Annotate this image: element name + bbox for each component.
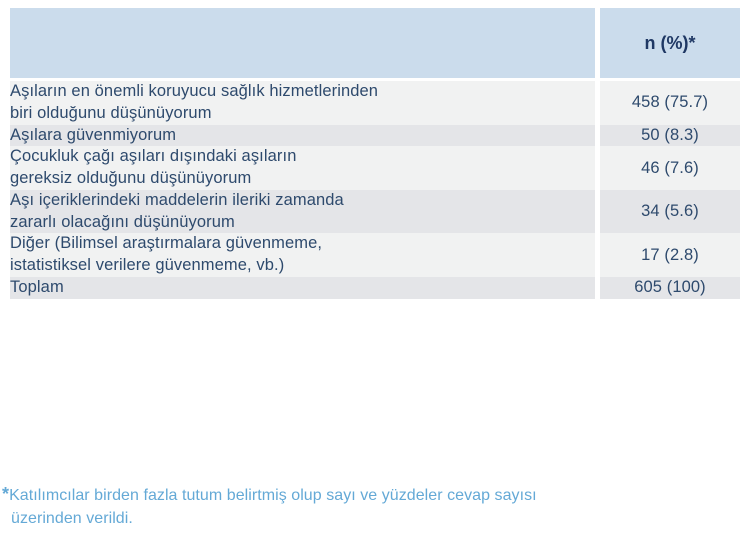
table-row: Diğer (Bilimsel araştırmalara güvenmeme,… bbox=[10, 233, 740, 277]
row-label-line1: Aşı içeriklerindeki maddelerin ileriki z… bbox=[10, 191, 344, 209]
row-label-line1: Çocukluk çağı aşıları dışındaki aşıların bbox=[10, 147, 296, 165]
row-label: Toplam bbox=[10, 277, 595, 299]
data-table-container: n (%)* Aşıların en önemli koruyucu sağlı… bbox=[10, 8, 740, 299]
footnote-line2: üzerinden verildi. bbox=[2, 507, 722, 530]
row-label: Çocukluk çağı aşıları dışındaki aşıların… bbox=[10, 146, 595, 190]
table-body: Aşıların en önemli koruyucu sağlık hizme… bbox=[10, 78, 740, 299]
footnote-line1: Katılımcılar birden fazla tutum belirtmi… bbox=[9, 487, 537, 504]
row-label-line2: zararlı olacağını düşünüyorum bbox=[10, 212, 595, 234]
row-label: Aşılara güvenmiyorum bbox=[10, 125, 595, 147]
header-value-cell: n (%)* bbox=[600, 8, 740, 78]
row-label: Aşı içeriklerindeki maddelerin ileriki z… bbox=[10, 190, 595, 234]
footnote-asterisk: * bbox=[2, 484, 9, 504]
row-label-line2: gereksiz olduğunu düşünüyorum bbox=[10, 168, 595, 190]
row-label-line1: Aşıların en önemli koruyucu sağlık hizme… bbox=[10, 82, 378, 100]
row-value: 46 (7.6) bbox=[600, 146, 740, 190]
row-value: 458 (75.7) bbox=[600, 81, 740, 125]
table-row: Aşı içeriklerindeki maddelerin ileriki z… bbox=[10, 190, 740, 234]
row-label-line1: Aşılara güvenmiyorum bbox=[10, 126, 176, 144]
header-label-cell bbox=[10, 8, 595, 78]
row-label-line2: biri olduğunu düşünüyorum bbox=[10, 103, 595, 125]
table-page: n (%)* Aşıların en önemli koruyucu sağlı… bbox=[0, 0, 740, 540]
table-footnote: *Katılımcılar birden fazla tutum belirtm… bbox=[2, 481, 722, 530]
table-header: n (%)* bbox=[10, 8, 740, 78]
row-value: 50 (8.3) bbox=[600, 125, 740, 147]
table-row-total: Toplam 605 (100) bbox=[10, 277, 740, 299]
table-row: Aşıların en önemli koruyucu sağlık hizme… bbox=[10, 81, 740, 125]
row-value: 34 (5.6) bbox=[600, 190, 740, 234]
row-value: 17 (2.8) bbox=[600, 233, 740, 277]
row-value: 605 (100) bbox=[600, 277, 740, 299]
header-row: n (%)* bbox=[10, 8, 740, 78]
row-label-line2: istatistiksel verilere güvenmeme, vb.) bbox=[10, 255, 595, 277]
row-label-line1: Diğer (Bilimsel araştırmalara güvenmeme, bbox=[10, 234, 322, 252]
attitudes-table: n (%)* Aşıların en önemli koruyucu sağlı… bbox=[10, 8, 740, 299]
table-row: Aşılara güvenmiyorum 50 (8.3) bbox=[10, 125, 740, 147]
table-row: Çocukluk çağı aşıları dışındaki aşıların… bbox=[10, 146, 740, 190]
row-label: Aşıların en önemli koruyucu sağlık hizme… bbox=[10, 81, 595, 125]
row-label-line1: Toplam bbox=[10, 278, 64, 296]
row-label: Diğer (Bilimsel araştırmalara güvenmeme,… bbox=[10, 233, 595, 277]
